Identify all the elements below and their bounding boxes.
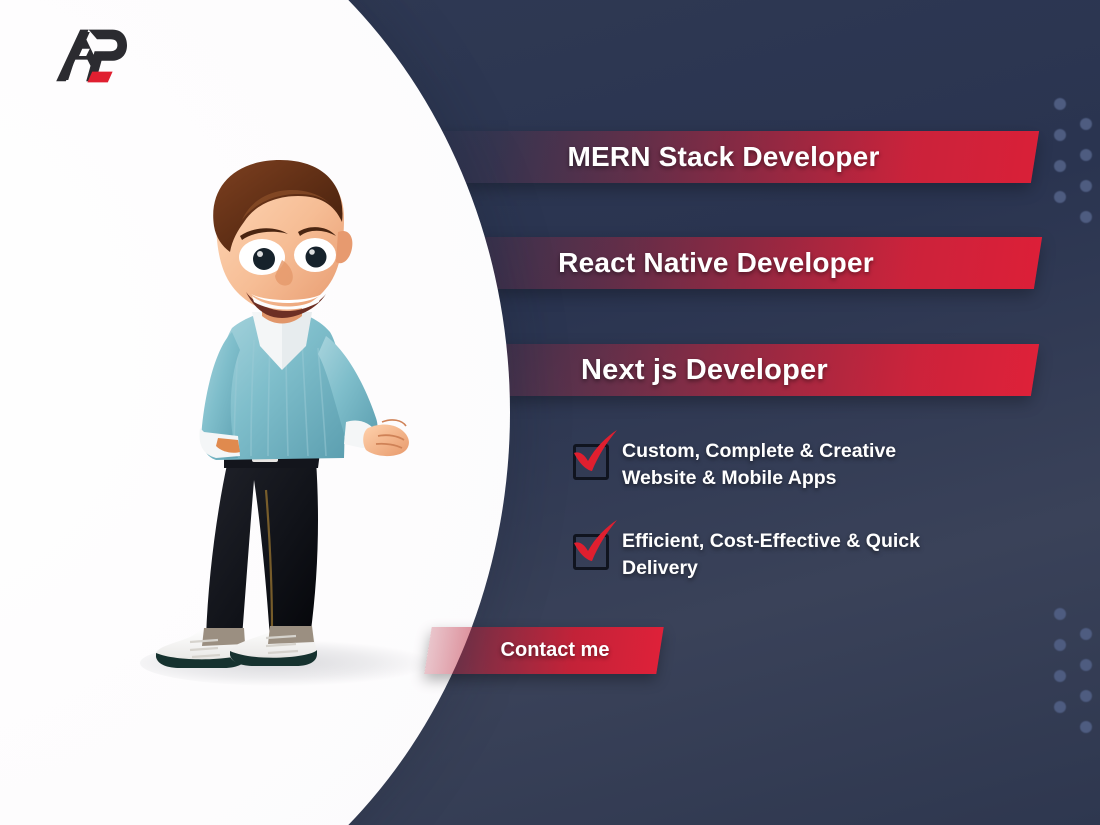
poster-canvas: MERN Stack Developer React Native Develo…	[0, 0, 1100, 825]
feature-item: Custom, Complete & Creative Website & Mo…	[566, 430, 1036, 492]
feature-line-2: Website & Mobile Apps	[622, 467, 837, 489]
cartoon-developer-character	[120, 160, 440, 690]
feature-text: Efficient, Cost-Effective & Quick Delive…	[622, 520, 920, 582]
feature-line-2: Delivery	[622, 557, 698, 579]
red-check-icon	[566, 430, 622, 484]
ap-logo[interactable]	[55, 27, 127, 85]
contact-me-label: Contact me	[428, 639, 660, 662]
feature-item: Efficient, Cost-Effective & Quick Delive…	[566, 520, 1036, 582]
headline-bar-mern: MERN Stack Developer	[416, 131, 1039, 183]
red-check-icon	[566, 520, 622, 574]
feature-list: Custom, Complete & Creative Website & Mo…	[566, 430, 1036, 610]
headline-bar-label: MERN Stack Developer	[420, 141, 1035, 173]
feature-text: Custom, Complete & Creative Website & Mo…	[622, 430, 896, 492]
feature-line-1: Custom, Complete & Creative	[622, 440, 896, 462]
feature-line-1: Efficient, Cost-Effective & Quick	[622, 530, 920, 552]
contact-me-button[interactable]: Contact me	[424, 627, 663, 674]
checkmark-glyph	[568, 516, 620, 566]
headline-bar-label: React Native Developer	[400, 247, 1038, 279]
checkmark-glyph	[568, 426, 620, 476]
